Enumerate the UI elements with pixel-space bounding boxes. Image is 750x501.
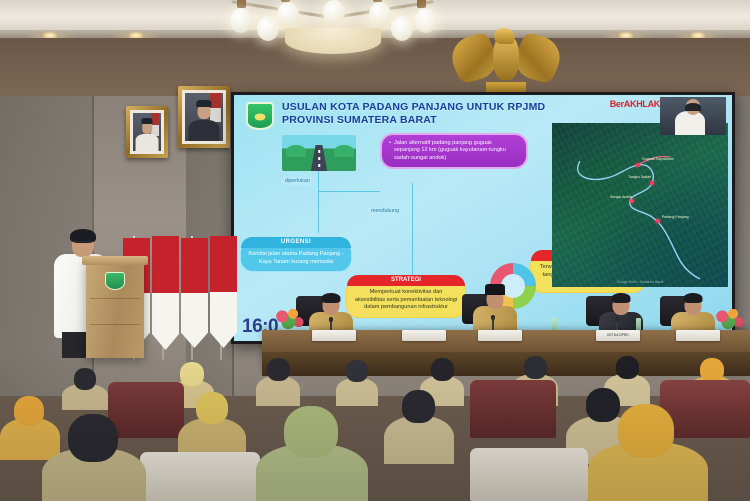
video-person-hair [685, 103, 701, 111]
podium-panel-line [90, 298, 140, 299]
bulb-cap [417, 0, 426, 8]
garuda-pancasila-icon [452, 28, 560, 96]
audience-head [402, 390, 435, 423]
chandelier-bulb [369, 2, 391, 27]
proposal-box: • Jalan alternatif padang panjang guguak… [380, 133, 528, 169]
audience-member [62, 368, 108, 408]
map-pin [636, 163, 640, 167]
audience-head [616, 356, 639, 379]
indonesian-flag [181, 238, 208, 348]
hijab-head [618, 404, 674, 458]
chandelier-bulb [277, 2, 299, 27]
portrait-cap [196, 100, 211, 108]
podium-panel-line [90, 324, 140, 325]
hijab-head [196, 392, 228, 424]
chandelier-bulb [323, 0, 345, 25]
portrait-photo [133, 113, 161, 151]
indonesian-flag [210, 236, 237, 348]
map-pin [650, 181, 654, 185]
chandelier-bulb [391, 16, 413, 41]
podium-top [82, 256, 148, 265]
video-person-body [675, 111, 705, 135]
portrait-flag [151, 113, 159, 136]
nameplate: KETUA DPRD [596, 330, 640, 341]
connector-label-diperlukan: diperlukan [282, 177, 313, 185]
map-pin-label: Guguak Kayutanam [642, 157, 674, 161]
nameplate [676, 330, 720, 341]
map-pin-label: Sungai Andok [610, 195, 632, 199]
nameplate [312, 330, 356, 341]
urgensi-text: Kondisi jalan utama Padang Panjang - Kay… [248, 251, 343, 264]
audience-member [42, 414, 146, 501]
nameplate [478, 330, 522, 341]
chandelier-bulb [257, 16, 279, 41]
meeting-room-photo: USULAN KOTA PADANG PANJANG UNTUK RPJMD P… [0, 0, 750, 501]
portrait-photo [185, 93, 223, 141]
slide-title-line2: PROVINSI SUMATERA BARAT [282, 114, 582, 127]
portrait-vice-president [126, 106, 168, 158]
map-pin-label: Tungku Sadah [628, 175, 651, 179]
proposal-text: Jalan alternatif padang panjang guguak s… [394, 140, 519, 162]
hill-shape [286, 145, 306, 157]
official-hair [322, 293, 341, 303]
portrait-president [178, 86, 230, 148]
road-illustration [282, 135, 356, 171]
podium-city-crest-icon [105, 272, 125, 290]
strategi-text: Memperkuat konektivitas dan aksesibilita… [355, 289, 457, 310]
audience-head [267, 358, 290, 381]
indonesian-flag [152, 236, 179, 350]
road-centerline [318, 150, 320, 168]
audience-member [256, 406, 368, 501]
audience-member [256, 358, 300, 404]
glasses-icon [73, 241, 93, 246]
portrait-flag [210, 93, 221, 122]
connector-line [412, 183, 413, 277]
audience-shoulders [384, 416, 454, 464]
map-pin-label: Padang Panjang [662, 215, 689, 219]
official-hair [612, 293, 631, 303]
hijab-head [180, 362, 204, 386]
audience-member [384, 390, 454, 462]
connector-line [318, 171, 319, 233]
audience-head [346, 360, 368, 382]
nameplate [402, 330, 446, 341]
chandelier [225, 0, 440, 60]
portrait-body [188, 120, 219, 141]
map-pin [630, 199, 634, 203]
chandelier-bulb [415, 8, 437, 33]
berakhlak-brand: BerAKHLAK [610, 99, 660, 109]
map-pin [656, 219, 660, 223]
hill-shape [334, 145, 354, 157]
hijab-head [284, 406, 338, 458]
audience-head [68, 414, 118, 462]
city-crest-icon [246, 102, 274, 130]
garuda-head [494, 28, 514, 44]
audience-chair [470, 380, 556, 438]
hijab-head [14, 396, 44, 426]
chandelier-bulb [230, 8, 252, 33]
audience-head [524, 356, 547, 379]
audience-shoulders [336, 378, 378, 406]
slide-title: USULAN KOTA PADANG PANJANG UNTUK RPJMD P… [282, 101, 582, 126]
audience-member [588, 404, 708, 501]
chandelier-bowl [285, 28, 381, 54]
map-credit: Google Earth / Sumatera Barat [617, 280, 664, 284]
audience-head [74, 368, 96, 390]
route-path [552, 123, 728, 287]
audience-chair [140, 452, 260, 501]
urgensi-box: URGENSI Kondisi jalan utama Padang Panja… [240, 240, 352, 272]
audience-head [431, 358, 454, 381]
official-hair [684, 293, 703, 303]
bullet-icon: • [389, 140, 391, 162]
strategi-tag: STRATEGI [347, 275, 465, 286]
audience-member [336, 360, 378, 404]
hijab-head [700, 358, 724, 382]
bulb-cap [237, 0, 246, 8]
connector-label-mendukung: mendukung [368, 207, 402, 215]
connector-line [318, 191, 380, 192]
audience-chair [470, 448, 588, 501]
strategi-box: STRATEGI Memperkuat konektivitas dan aks… [346, 278, 466, 318]
flower-arrangement [272, 306, 306, 332]
presenter-video-inset [660, 97, 726, 135]
satellite-route-map: Guguak Kayutanam Tungku Sadah Sungai And… [552, 123, 728, 287]
songkok-icon [485, 284, 505, 295]
urgensi-tag: URGENSI [241, 237, 351, 248]
podium [86, 262, 144, 358]
flower-arrangement [712, 306, 746, 332]
portrait-body [136, 134, 159, 151]
portrait-cap [141, 118, 152, 124]
slide-title-line1: USULAN KOTA PADANG PANJANG UNTUK RPJMD [282, 101, 582, 114]
